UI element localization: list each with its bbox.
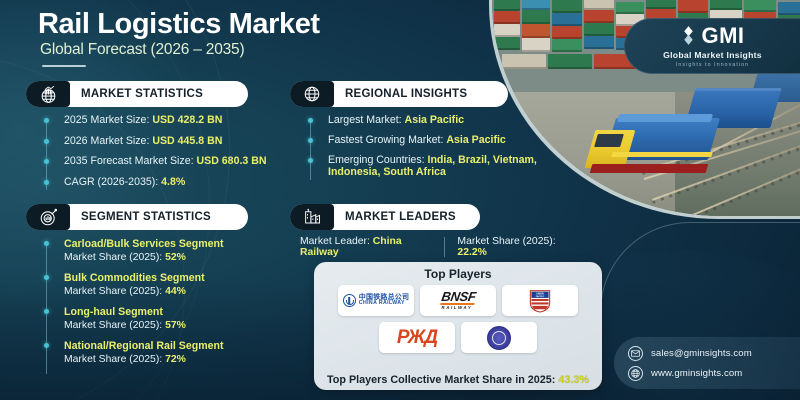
top-players-footer: Top Players Collective Market Share in 2… — [314, 374, 602, 386]
share-value: 52% — [165, 252, 186, 263]
container-block — [522, 0, 550, 10]
container-block — [552, 0, 582, 13]
share-value: 44% — [165, 286, 186, 297]
stat-label: Fastest Growing Market: — [328, 134, 446, 146]
list-item: Fastest Growing Market: Asia Pacific — [310, 134, 550, 146]
segment-name: Long-haul Segment — [64, 306, 296, 318]
list-item: Largest Market: Asia Pacific — [310, 114, 550, 126]
indian-railways-logo — [461, 322, 537, 353]
stat-value: USD 680.3 BN — [196, 155, 266, 167]
container-block — [678, 0, 708, 13]
rzd-logo: РЖД — [379, 322, 455, 353]
stat-value: USD 445.8 BN — [152, 135, 222, 147]
gmi-brand-name: GMI — [701, 25, 744, 47]
container-block — [646, 0, 676, 9]
container-block — [552, 39, 582, 52]
share-label: Market Share (2025): — [64, 354, 165, 365]
locomotive-roof — [617, 114, 713, 122]
container-block — [552, 13, 582, 26]
container-block — [584, 0, 614, 10]
section-header-segment-statistics: SEGMENT STATISTICS — [26, 204, 248, 230]
contact-email: sales@gminsights.com — [651, 348, 752, 359]
page-subtitle: Global Forecast (2026 – 2035) — [40, 41, 244, 59]
globe-icon — [290, 81, 334, 107]
top-players-title: Top Players — [314, 267, 602, 281]
stat-label: Largest Market: — [328, 114, 405, 126]
globe-chart-icon — [26, 81, 70, 107]
gmi-diamond-icon — [680, 26, 697, 45]
container-block — [778, 2, 800, 15]
contact-website: www.gminsights.com — [651, 368, 742, 379]
container-block — [616, 2, 644, 14]
container-block — [502, 54, 546, 69]
segment-share: Market Share (2025): 52% — [64, 252, 296, 263]
share-label: Market Share (2025): — [64, 252, 165, 263]
stat-label: CAGR (2026-2035): — [64, 176, 161, 188]
market-statistics-list: 2025 Market Size: USD 428.2 BN 2026 Mark… — [46, 114, 296, 196]
locomotive-window — [594, 134, 624, 147]
footer-value: 43.3% — [558, 374, 589, 386]
svg-text:UNION: UNION — [536, 293, 544, 295]
list-item: 2035 Forecast Market Size: USD 680.3 BN — [46, 155, 296, 167]
stat-label: 2035 Forecast Market Size: — [64, 155, 196, 167]
indian-railways-emblem-icon — [487, 326, 511, 350]
container-block — [744, 0, 776, 12]
list-item: Carload/Bulk Services Segment Market Sha… — [46, 238, 296, 263]
gmi-logo-badge: GMI Global Market Insights Insights to I… — [624, 18, 800, 74]
list-item: Long-haul Segment Market Share (2025): 5… — [46, 306, 296, 331]
union-pacific-shield-icon: UNION PACIFIC — [529, 289, 551, 313]
segment-share: Market Share (2025): 57% — [64, 320, 296, 331]
union-pacific-logo: UNION PACIFIC — [502, 285, 578, 316]
china-railway-logo: 中国铁路总公司 CHINA RAILWAY — [338, 285, 414, 316]
locomotive-skirt — [590, 164, 709, 173]
share-value: 72% — [165, 354, 186, 365]
container-block — [494, 11, 520, 24]
bnsf-name: BNSF — [440, 290, 477, 305]
contact-email-row[interactable]: sales@gminsights.com — [628, 346, 800, 361]
infographic-canvas: GMI Global Market Insights Insights to I… — [0, 0, 800, 400]
envelope-icon — [628, 346, 643, 361]
regional-insights-list: Largest Market: Asia Pacific Fastest Gro… — [310, 114, 550, 186]
list-item: National/Regional Rail Segment Market Sh… — [46, 340, 296, 365]
title-divider — [42, 65, 86, 67]
bnsf-logo: BNSF RAILWAY — [420, 285, 496, 316]
stat-label: Emerging Countries: — [328, 154, 428, 166]
contact-website-row[interactable]: www.gminsights.com — [628, 366, 800, 381]
locomotive-stripe — [611, 152, 712, 157]
locomotive — [588, 112, 714, 178]
section-header-market-statistics: MARKET STATISTICS — [26, 81, 248, 107]
container-block — [584, 36, 614, 49]
container-block — [522, 24, 550, 38]
contact-strip: sales@gminsights.com www.gminsights.com — [614, 337, 800, 389]
container-block — [584, 10, 614, 23]
stat-value: Asia Pacific — [405, 114, 464, 126]
segment-name: Bulk Commodities Segment — [64, 272, 296, 284]
container-block — [710, 0, 742, 10]
stat-value: 4.8% — [161, 176, 185, 188]
container-block — [522, 10, 550, 24]
rzd-name: РЖД — [397, 327, 437, 349]
section-label: MARKET STATISTICS — [70, 88, 203, 100]
segment-statistics-list: Carload/Bulk Services Segment Market Sha… — [46, 238, 296, 374]
bullet-dot — [44, 180, 49, 185]
section-header-regional-insights: REGIONAL INSIGHTS — [290, 81, 508, 107]
stat-label: 2025 Market Size: — [64, 114, 152, 126]
section-label: MARKET LEADERS — [334, 211, 456, 223]
top-players-logo-grid: 中国铁路总公司 CHINA RAILWAY BNSF RAILWAY UNION… — [314, 285, 602, 353]
factory-icon — [290, 204, 334, 230]
container-block — [548, 54, 592, 69]
segment-share: Market Share (2025): 72% — [64, 354, 296, 365]
vertical-divider — [444, 237, 445, 257]
svg-text:PACIFIC: PACIFIC — [536, 295, 545, 298]
bnsf-sub: RAILWAY — [439, 306, 474, 310]
list-item: Emerging Countries: India, Brazil, Vietn… — [310, 154, 550, 178]
share-label: Market Share (2025): — [64, 286, 165, 297]
page-title: Rail Logistics Market — [38, 8, 320, 41]
bullet-dot — [44, 241, 49, 246]
stat-value: USD 428.2 BN — [152, 114, 222, 126]
segment-name: National/Regional Rail Segment — [64, 340, 296, 352]
list-item: Bulk Commodities Segment Market Share (2… — [46, 272, 296, 297]
bullet-dot — [44, 159, 49, 164]
gmi-brand-full: Global Market Insights — [663, 50, 762, 60]
bullet-dot — [308, 138, 313, 143]
container-block — [522, 38, 550, 52]
bullet-dot — [308, 118, 313, 123]
bullet-dot — [44, 309, 49, 314]
globe-icon — [628, 366, 643, 381]
list-item: 2025 Market Size: USD 428.2 BN — [46, 114, 296, 126]
container-block — [494, 0, 520, 11]
container-block — [584, 23, 614, 36]
bullet-dot — [308, 158, 313, 163]
bullet-dot — [44, 275, 49, 280]
gmi-logo-row: GMI — [680, 25, 744, 47]
share-label: Market Share (2025): — [64, 320, 165, 331]
bullet-dot — [44, 118, 49, 123]
leader-share-label: Market Share (2025): — [457, 236, 555, 247]
container-block — [494, 37, 520, 50]
bullet-dot — [44, 343, 49, 348]
section-label: SEGMENT STATISTICS — [70, 211, 211, 223]
segment-share: Market Share (2025): 44% — [64, 286, 296, 297]
leader-label: Market Leader: — [300, 236, 373, 247]
section-label: REGIONAL INSIGHTS — [334, 88, 467, 100]
footer-label: Top Players Collective Market Share in 2… — [327, 374, 558, 386]
target-chart-icon — [26, 204, 70, 230]
stat-value: Asia Pacific — [446, 134, 505, 146]
container-block — [494, 24, 520, 37]
section-header-market-leaders: MARKET LEADERS — [290, 204, 480, 230]
top-players-card: Top Players 中国铁路总公司 CHINA RAILWAY BNSF R… — [314, 262, 602, 390]
market-leader-row: Market Leader: China Railway Market Shar… — [300, 238, 580, 256]
china-railway-name-en: CHINA RAILWAY — [359, 301, 409, 306]
bullet-dot — [44, 139, 49, 144]
list-item: CAGR (2026-2035): 4.8% — [46, 176, 296, 188]
gmi-tagline: Insights to Innovation — [676, 62, 749, 68]
list-item: 2026 Market Size: USD 445.8 BN — [46, 135, 296, 147]
container-block — [552, 26, 582, 39]
stat-label: 2026 Market Size: — [64, 135, 152, 147]
segment-name: Carload/Bulk Services Segment — [64, 238, 296, 250]
leader-share-value: 22.2% — [457, 247, 486, 258]
china-railway-emblem-icon — [343, 294, 356, 307]
share-value: 57% — [165, 320, 186, 331]
